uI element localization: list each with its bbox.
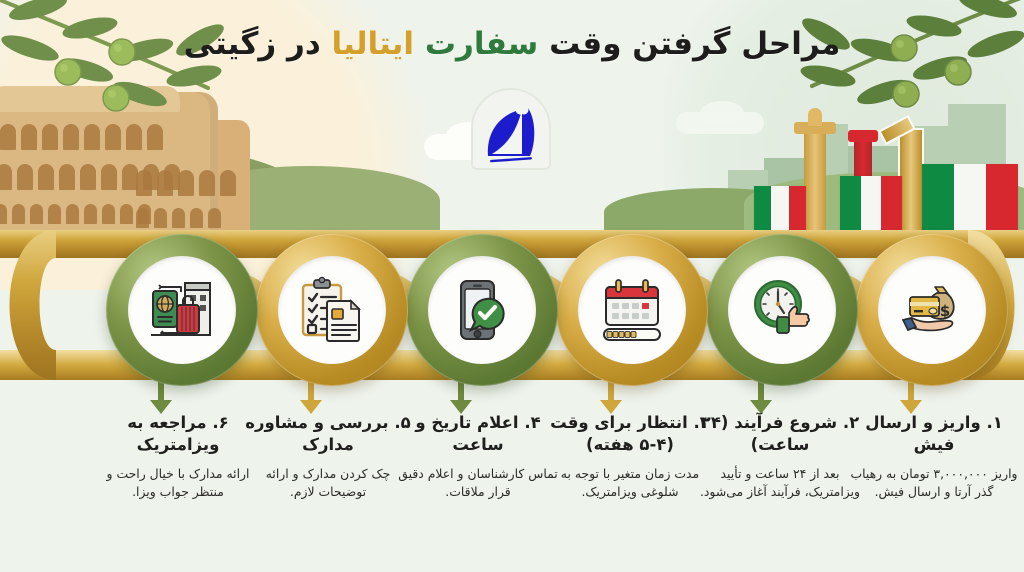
svg-text:$: $ bbox=[940, 302, 950, 320]
step-body-5: چک کردن مدارک و ارائه توضیحات لازم. bbox=[244, 465, 412, 502]
colosseum-arch-row bbox=[136, 170, 236, 196]
title-part-2: در زگیتی bbox=[184, 26, 332, 62]
colosseum-arch-row bbox=[0, 204, 151, 224]
monument-gold-flag-arm bbox=[878, 115, 916, 145]
step-title-3: ۳. انتظار برای وقت (۴-۵ هفته) bbox=[546, 412, 714, 456]
cloud bbox=[700, 101, 744, 125]
step-text-2: ۲. شروع فرآیند (۲۴ ساعت) بعد از ۲۴ ساعت … bbox=[696, 412, 864, 502]
clipboard-checklist-with-document-icon bbox=[295, 273, 369, 347]
step-body-6: ارائه مدارک با خیال راحت و منتظر جواب وی… bbox=[94, 465, 262, 502]
step-node-5[interactable] bbox=[256, 234, 408, 386]
step-title-2: ۲. شروع فرآیند (۲۴ ساعت) bbox=[696, 412, 864, 456]
hand-holding-money-bag-with-credit-card-icon: $ bbox=[895, 273, 969, 347]
colosseum-illustration bbox=[0, 78, 250, 246]
step-text-1: ۱. واریز و ارسال فیش واریز ۳,۰۰۰,۰۰۰ توم… bbox=[850, 412, 1018, 502]
step-body-2: بعد از ۲۴ ساعت و تأیید ویزامتریک، فرآیند… bbox=[696, 465, 864, 502]
step-text-6: ۶. مراجعه به ویزامتریک ارائه مدارک با خی… bbox=[94, 412, 262, 502]
monument-finial bbox=[808, 108, 822, 126]
step-body-3: مدت زمان متغیر با توجه به شلوغی ویزامتری… bbox=[546, 465, 714, 502]
step-node-1[interactable]: $ bbox=[856, 234, 1008, 386]
step-node-4[interactable] bbox=[406, 234, 558, 386]
step-icon-disc-2 bbox=[728, 256, 836, 364]
colosseum-arch-row bbox=[0, 124, 163, 150]
process-ring-row: $ bbox=[0, 234, 1024, 394]
colosseum-main-body bbox=[0, 92, 218, 242]
zagiti-logo bbox=[471, 88, 551, 170]
step-icon-disc-5 bbox=[278, 256, 386, 364]
step-text-4: ۴. اعلام تاریخ و ساعت تماس کارشناسان و ا… bbox=[394, 412, 562, 502]
step-text-5: ۵. بررسی و مشاوره مدارک چک کردن مدارک و … bbox=[244, 412, 412, 502]
step-body-4: تماس کارشناسان و اعلام دقیق قرار ملاقات. bbox=[394, 465, 562, 502]
title-part-1: مراحل گرفتن وقت bbox=[538, 26, 840, 62]
step-title-5: ۵. بررسی و مشاوره مدارک bbox=[244, 412, 412, 456]
step-icon-disc-4 bbox=[428, 256, 536, 364]
step-title-1: ۱. واریز و ارسال فیش bbox=[850, 412, 1018, 456]
step-node-6[interactable] bbox=[106, 234, 258, 386]
hill-shape bbox=[0, 146, 300, 236]
colosseum-arch-row bbox=[0, 164, 180, 190]
page-title: مراحل گرفتن وقت سفارت ایتالیا در زگیتی bbox=[0, 24, 1024, 66]
smartphone-with-check-bubble-icon bbox=[445, 273, 519, 347]
step-icon-disc-6 bbox=[128, 256, 236, 364]
title-embassy-word: سفارت bbox=[425, 26, 538, 62]
city-skyline-silhouette bbox=[948, 104, 1006, 244]
step-node-2[interactable] bbox=[706, 234, 858, 386]
title-space bbox=[414, 26, 425, 62]
step-icon-disc-1: $ bbox=[878, 256, 986, 364]
step-body-1: واریز ۳,۰۰۰,۰۰۰ تومان به رهیاب گذر آرتا … bbox=[850, 465, 1018, 502]
title-italy-word: ایتالیا bbox=[332, 26, 415, 62]
clock-with-thumbs-up-icon bbox=[745, 273, 819, 347]
passport-suitcase-building-icon bbox=[145, 273, 219, 347]
monument-red-cap bbox=[848, 130, 878, 142]
step-text-3: ۳. انتظار برای وقت (۴-۵ هفته) مدت زمان م… bbox=[546, 412, 714, 502]
step-text-row: ۱. واریز و ارسال فیش واریز ۳,۰۰۰,۰۰۰ توم… bbox=[0, 412, 1024, 572]
step-node-3[interactable] bbox=[556, 234, 708, 386]
step-title-6: ۶. مراجعه به ویزامتریک bbox=[94, 412, 262, 456]
monument-capital bbox=[794, 122, 836, 134]
calendar-with-progress-bar-icon bbox=[595, 273, 669, 347]
colosseum-top-cornice bbox=[0, 86, 180, 112]
logo-sail-figure-icon bbox=[478, 98, 544, 168]
step-icon-disc-3 bbox=[578, 256, 686, 364]
infographic-canvas: مراحل گرفتن وقت سفارت ایتالیا در زگیتی bbox=[0, 0, 1024, 572]
cloud bbox=[676, 112, 764, 134]
step-title-4: ۴. اعلام تاریخ و ساعت bbox=[394, 412, 562, 456]
